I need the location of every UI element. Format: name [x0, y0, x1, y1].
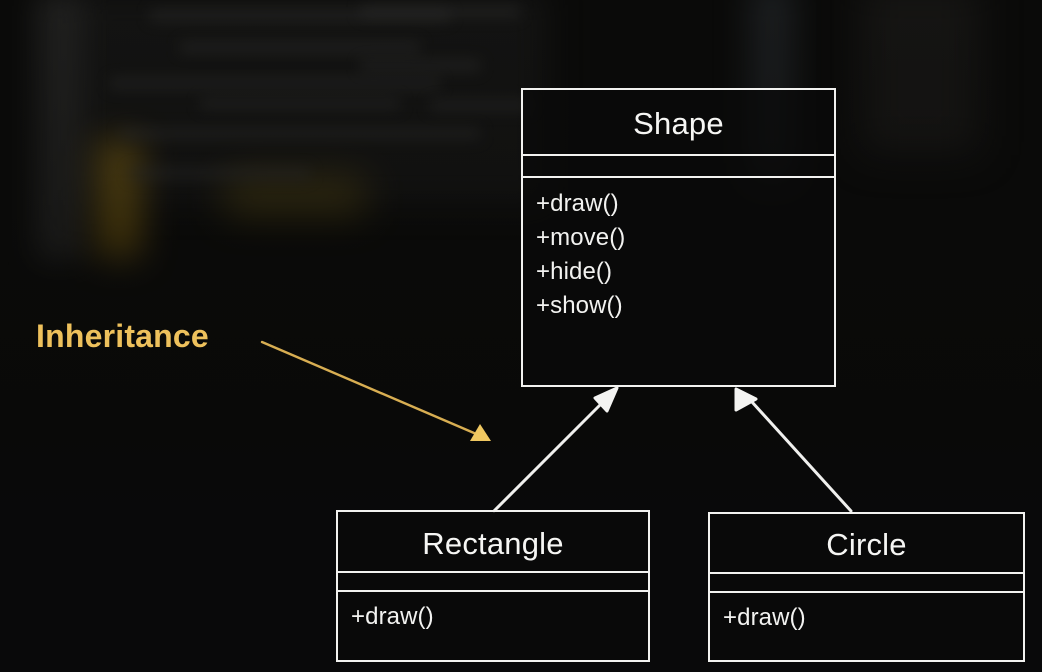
uml-method: +move() [523, 221, 834, 255]
uml-class-shape-methods: +draw() +move() +hide() +show() [523, 178, 834, 323]
uml-class-circle-title: Circle [710, 514, 1023, 572]
uml-class-circle-attributes [710, 574, 1023, 591]
uml-class-rectangle-methods: +draw() [338, 592, 648, 634]
diagram-canvas: Shape +draw() +move() +hide() +show() Re… [0, 0, 1042, 672]
uml-class-shape-title: Shape [523, 90, 834, 154]
uml-method: +draw() [523, 187, 834, 221]
uml-class-circle-methods: +draw() [710, 593, 1023, 635]
uml-method: +hide() [523, 255, 834, 289]
uml-class-shape[interactable]: Shape +draw() +move() +hide() +show() [521, 88, 836, 387]
uml-method: +draw() [710, 601, 1023, 635]
uml-method: +draw() [338, 600, 648, 634]
uml-class-circle[interactable]: Circle +draw() [708, 512, 1025, 662]
uml-class-shape-attributes [523, 156, 834, 176]
uml-class-rectangle[interactable]: Rectangle +draw() [336, 510, 650, 662]
uml-method: +show() [523, 289, 834, 323]
uml-class-rectangle-title: Rectangle [338, 512, 648, 571]
uml-class-rectangle-attributes [338, 573, 648, 590]
inheritance-annotation-label: Inheritance [36, 320, 209, 352]
